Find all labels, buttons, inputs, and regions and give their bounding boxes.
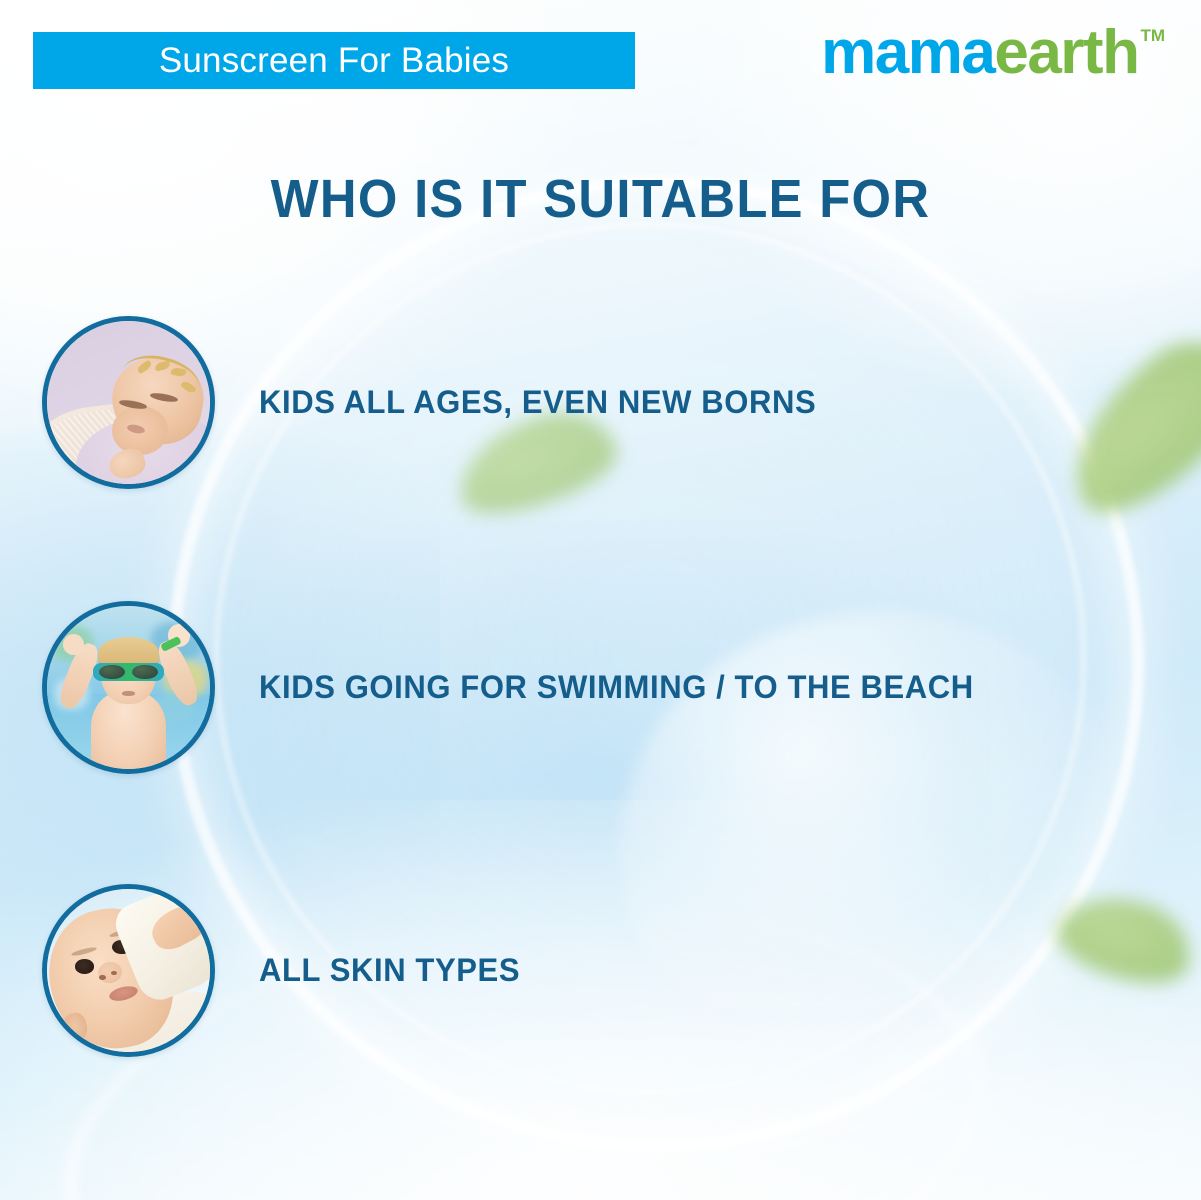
photo-baby-wipe (42, 884, 215, 1057)
list-item: KIDS ALL AGES, EVEN NEW BORNS (0, 316, 1201, 489)
suitability-list: KIDS ALL AGES, EVEN NEW BORNS (0, 0, 1201, 1200)
list-item-label: KIDS GOING FOR SWIMMING / TO THE BEACH (259, 669, 974, 706)
list-item-label: KIDS ALL AGES, EVEN NEW BORNS (259, 384, 816, 421)
poster-canvas: Sunscreen For Babies mamaearthTM WHO IS … (0, 0, 1201, 1200)
newborn-illustration (47, 321, 210, 484)
photo-swimming-kid (42, 601, 215, 774)
list-item-label: ALL SKIN TYPES (259, 952, 520, 989)
list-item: KIDS GOING FOR SWIMMING / TO THE BEACH (0, 601, 1201, 774)
list-item: ALL SKIN TYPES (0, 884, 1201, 1057)
photo-newborn (42, 316, 215, 489)
pool-illustration (47, 606, 210, 769)
baby-wipe-illustration (47, 889, 210, 1052)
